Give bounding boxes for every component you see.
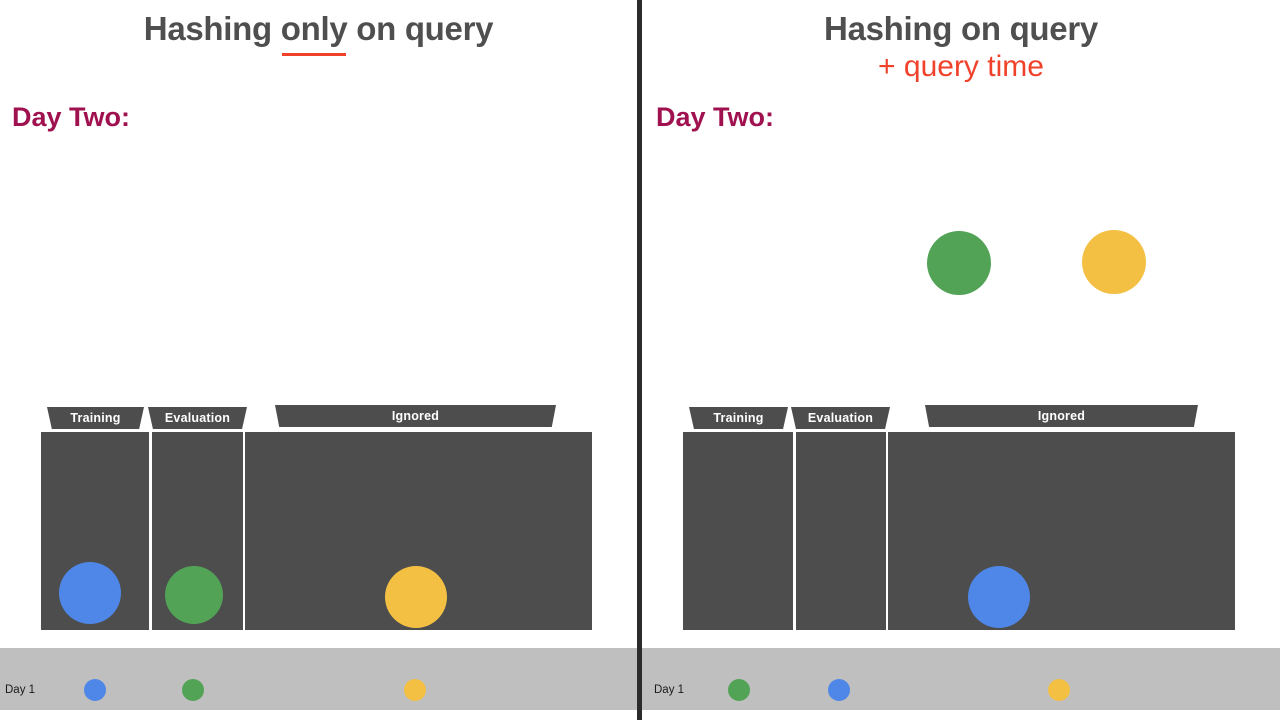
right-bin-training [683, 432, 793, 630]
slide-canvas: Hashing only on query Day Two: Training … [0, 0, 1280, 720]
right-bin-header-training: Training [689, 407, 788, 429]
left-timeline-dot-green [182, 679, 204, 701]
right-bin-evaluation [796, 432, 886, 630]
right-timeline-dot-green [728, 679, 750, 701]
right-bin-header-evaluation: Evaluation [791, 407, 890, 429]
right-bin-ignored [888, 432, 1235, 630]
right-bin-ignored-item-blue [968, 566, 1030, 628]
left-timeline-label: Day 1 [5, 684, 35, 696]
right-bin-header-ignored: Ignored [925, 405, 1198, 427]
right-bin-evaluation-body [796, 432, 886, 630]
left-bin-header-ignored: Ignored [275, 405, 556, 427]
right-timeline-label: Day 1 [654, 684, 684, 696]
right-timeline-dot-blue [828, 679, 850, 701]
left-bin-ignored-item-yellow [385, 566, 447, 628]
right-panel: Hashing on query + query time Day Two: T… [642, 0, 1280, 720]
left-bin-header-evaluation: Evaluation [148, 407, 247, 429]
left-bins-layer: Training Evaluation Ignored [0, 0, 637, 720]
left-bin-evaluation [152, 432, 243, 630]
left-bin-training [41, 432, 149, 630]
left-timeline-dot-blue [84, 679, 106, 701]
left-timeline-dot-yellow [404, 679, 426, 701]
left-bin-header-training: Training [47, 407, 144, 429]
right-bins-layer: Training Evaluation Ignored [642, 0, 1280, 720]
right-bin-ignored-body [888, 432, 1235, 630]
right-timeline-strip: Day 1 [642, 648, 1280, 710]
left-panel: Hashing only on query Day Two: Training … [0, 0, 637, 720]
left-bin-evaluation-item-green [165, 566, 223, 624]
right-bin-training-body [683, 432, 793, 630]
right-timeline-dot-yellow [1048, 679, 1070, 701]
left-timeline-strip: Day 1 [0, 648, 637, 710]
left-bin-ignored [245, 432, 592, 630]
left-bin-training-item-blue [59, 562, 121, 624]
